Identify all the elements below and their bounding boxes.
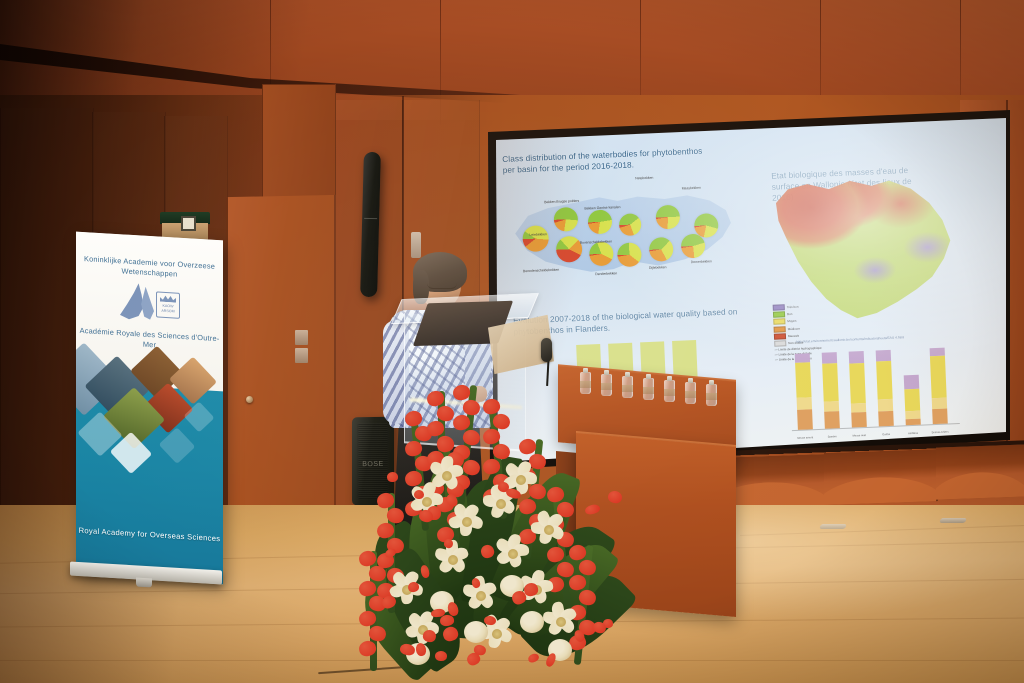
bar-segment xyxy=(795,362,811,398)
legend-swatch xyxy=(773,311,785,317)
banner-lower: Royal Academy for Overseas Sciences xyxy=(76,383,223,584)
flower-bud xyxy=(435,651,447,661)
bar-segment xyxy=(672,340,698,379)
door-knob-icon[interactable] xyxy=(246,396,253,403)
bar-segment xyxy=(904,388,920,411)
water-bottle xyxy=(706,384,717,406)
bar-segment xyxy=(904,375,920,389)
photo-scene: BOSE Class distribution of the waterbodi… xyxy=(0,0,1024,683)
roll-up-banner: Koninklijke Academie voor Overzeese Wete… xyxy=(76,232,223,585)
lily-center xyxy=(496,499,506,509)
bar-category-label: Meuse aval xyxy=(846,434,872,438)
legend-label: Mauvais xyxy=(788,333,799,337)
logo-text: KAOW ARSOM xyxy=(158,304,178,314)
banner-foot xyxy=(136,578,152,588)
legend-label: Moyen xyxy=(787,319,796,323)
bar-category-label: Amblève xyxy=(900,431,926,435)
legend-label: Très bon xyxy=(787,305,799,309)
bar-segment xyxy=(906,419,921,426)
legend-swatch xyxy=(774,326,786,332)
bar-category-label: Ourthe xyxy=(873,433,899,437)
bar-segment xyxy=(849,351,864,364)
wall-socket xyxy=(411,232,421,258)
basin-label: Dijlebekken xyxy=(649,265,667,270)
bar-category-label: Semois-Chiers xyxy=(927,430,953,434)
academy-logo-icon: KAOW ARSOM xyxy=(120,282,180,324)
status-bar xyxy=(930,348,948,425)
water-bottle xyxy=(664,380,675,402)
slide-title-left: Class distribution of the waterbodies fo… xyxy=(502,145,713,176)
bar-segment xyxy=(930,355,947,398)
rose-bloom xyxy=(520,611,544,633)
basin-label: Demerbekken xyxy=(691,259,712,264)
status-bar xyxy=(876,350,894,427)
lily-center xyxy=(508,549,518,559)
basin-pie xyxy=(617,242,642,267)
microphone-icon xyxy=(541,338,552,362)
bar-category-label: Meuse amont xyxy=(792,436,818,440)
gladiolus-bloom xyxy=(461,398,481,417)
legend-swatch xyxy=(773,319,785,325)
bar-segment xyxy=(824,411,840,428)
lily-center xyxy=(516,475,526,485)
floor-outlet xyxy=(819,524,847,529)
lily-center xyxy=(492,629,502,639)
lily-center xyxy=(476,591,486,601)
banner-caption: Royal Academy for Overseas Sciences xyxy=(76,525,223,545)
basin-label: Maasbekken xyxy=(682,186,701,191)
lily-center xyxy=(442,471,452,481)
status-bar xyxy=(822,352,840,429)
bar-segment xyxy=(932,398,947,409)
wave-panel xyxy=(824,449,938,505)
flower-bud xyxy=(387,472,399,483)
lily-center xyxy=(448,555,458,565)
floor-outlet xyxy=(939,518,967,523)
bar-segment xyxy=(932,408,948,424)
glasses-icon xyxy=(427,280,457,289)
bar-category-label: Sambre xyxy=(819,435,845,439)
legend-label: Médiocre xyxy=(788,326,801,331)
legend-label: Bon xyxy=(787,312,793,316)
decorative-tile xyxy=(159,428,196,465)
wallonia-status-bars: Meuse amontSambreMeuse avalOurtheAmblève… xyxy=(788,341,960,444)
basin-pie xyxy=(681,234,706,259)
bar-segment xyxy=(822,363,839,402)
lily-center xyxy=(462,517,472,527)
bar-segment xyxy=(851,412,867,428)
upper-wall-panel xyxy=(262,84,336,204)
water-bottle xyxy=(685,382,696,404)
bar-segment xyxy=(849,363,866,403)
water-bottle xyxy=(643,378,654,400)
bar-segment xyxy=(824,401,839,412)
rose-bloom xyxy=(464,621,488,643)
legend-swatch xyxy=(774,340,786,346)
status-bar xyxy=(849,351,867,428)
basin-label: Denderbekken xyxy=(595,271,617,276)
lily-center xyxy=(544,525,554,535)
legend-swatch xyxy=(774,333,786,339)
stage-door[interactable] xyxy=(226,195,336,527)
status-bar xyxy=(904,375,921,426)
status-bar xyxy=(795,353,813,430)
bar-segment xyxy=(876,361,893,400)
legend-swatch xyxy=(773,304,785,310)
bar-segment xyxy=(878,398,893,411)
flower-bud xyxy=(607,490,623,505)
bar-segment xyxy=(797,409,813,429)
floral-arrangement xyxy=(352,375,640,675)
bar-segment xyxy=(797,397,812,410)
bar-segment xyxy=(876,350,891,361)
basin-label: Benedenscheldebekken xyxy=(523,268,559,274)
flower-bud xyxy=(584,503,600,515)
wave-panel xyxy=(936,444,1024,499)
basin-label: Leiebekken xyxy=(529,232,547,237)
bar-segment xyxy=(878,411,894,427)
basin-label: Netebekken xyxy=(635,176,653,181)
lily-center xyxy=(556,617,566,627)
bar-segment xyxy=(822,352,837,363)
